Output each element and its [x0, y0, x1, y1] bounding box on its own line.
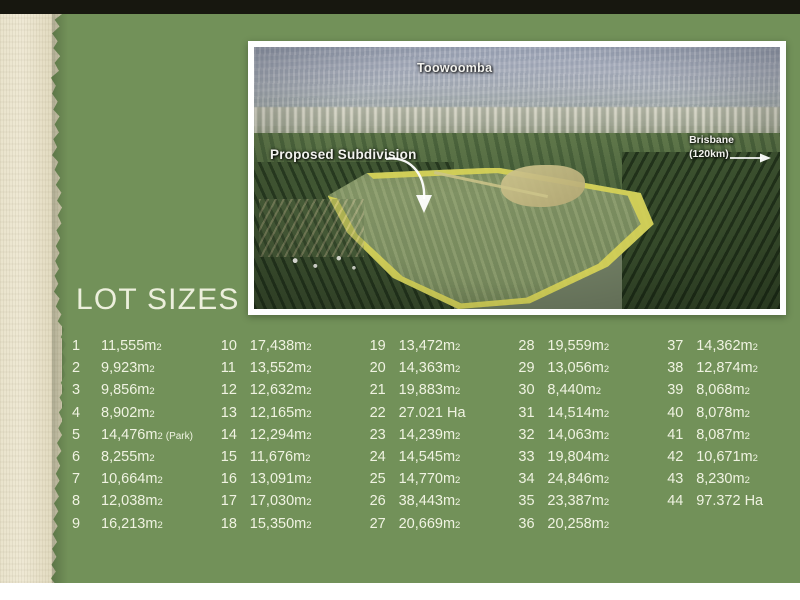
aerial-photo: Toowoomba Proposed Subdivision Brisbane …: [254, 47, 780, 309]
lot-area: 8,087m: [696, 427, 744, 443]
lot-number: 21: [370, 382, 395, 398]
lot-number: 38: [667, 360, 692, 376]
lot-number: 25: [370, 471, 395, 487]
lot-area: 19,804m: [547, 449, 603, 465]
lot-row: 2514,770m2: [370, 471, 519, 493]
lot-column-5: 3714,362m2 3812,874m2 398,068m2 408,078m…: [667, 338, 787, 538]
lot-row: 2014,363m2: [370, 360, 519, 382]
lot-area-unit-exponent: 2: [604, 453, 609, 464]
lot-number: 40: [667, 405, 692, 421]
lot-column-3: 1913,472m2 2014,363m2 2119,883m2 2227.02…: [370, 338, 519, 538]
lot-row: 2913,056m2: [518, 360, 667, 382]
lot-number: 24: [370, 449, 395, 465]
lot-area-unit-exponent: 2: [745, 475, 750, 486]
lot-area-unit-exponent: 2: [455, 520, 460, 531]
lot-area-unit-exponent: 2: [604, 520, 609, 531]
lot-area: 24,846m: [547, 471, 603, 487]
lot-number: 33: [518, 449, 543, 465]
lot-number: 22: [370, 405, 395, 421]
aerial-photo-frame: Toowoomba Proposed Subdivision Brisbane …: [248, 41, 786, 315]
lot-area-unit-exponent: 2: [604, 409, 609, 420]
lot-area-unit-exponent: 2: [157, 475, 162, 486]
lot-row: 1717,030m2: [221, 493, 370, 515]
lot-area-unit-exponent: 2: [306, 431, 311, 442]
lot-area: 16,213m: [101, 516, 157, 532]
lot-area: 8,440m: [547, 382, 595, 398]
lot-number: 19: [370, 338, 395, 354]
lot-row: 4497.372 Ha: [667, 493, 787, 515]
lot-area-unit-exponent: 2: [156, 342, 161, 353]
lot-row: 3424,846m2: [518, 471, 667, 493]
lot-row: 3523,387m2: [518, 493, 667, 515]
lot-area-unit-exponent: 2: [149, 409, 154, 420]
lot-number: 35: [518, 493, 543, 509]
lot-sizes-table: 111,555m2 29,923m2 39,856m2 48,902m2 514…: [72, 338, 787, 538]
lot-area-unit-exponent: 2: [753, 364, 758, 375]
lot-area-unit-exponent: 2: [149, 453, 154, 464]
label-brisbane-group: Brisbane (120km): [689, 133, 734, 161]
torn-paper-strip: [0, 14, 62, 583]
lot-row: 1511,676m2: [221, 449, 370, 471]
lot-number: 10: [221, 338, 246, 354]
lot-area-unit-exponent: 2: [753, 342, 758, 353]
lot-row: 916,213m2: [72, 516, 221, 538]
lot-area: 9,856m: [101, 382, 149, 398]
lot-area-unit-exponent: 2: [306, 364, 311, 375]
lot-row: 710,664m2: [72, 471, 221, 493]
lot-area: 38,443m: [399, 493, 455, 509]
lot-column-2: 1017,438m2 1113,552m2 1212,632m2 1312,16…: [221, 338, 370, 538]
lot-row: 408,078m2: [667, 405, 787, 427]
lot-number: 44: [667, 493, 692, 509]
lot-number: 31: [518, 405, 543, 421]
lot-row: 39,856m2: [72, 382, 221, 404]
lot-number: 41: [667, 427, 692, 443]
bottom-border-band: [0, 583, 800, 600]
lot-row: 1113,552m2: [221, 360, 370, 382]
lot-number: 2: [72, 360, 97, 376]
lot-row: 1613,091m2: [221, 471, 370, 493]
lot-row: 2638,443m2: [370, 493, 519, 515]
lot-area: 13,472m: [399, 338, 455, 354]
lot-area: 8,255m: [101, 449, 149, 465]
lot-row: 1212,632m2: [221, 382, 370, 404]
lot-area: 14,514m: [547, 405, 603, 421]
lot-area: 13,552m: [250, 360, 306, 376]
lot-row: 398,068m2: [667, 382, 787, 404]
lot-number: 11: [221, 360, 246, 376]
lot-area: 12,038m: [101, 493, 157, 509]
lot-column-4: 2819,559m2 2913,056m2 308,440m2 3114,514…: [518, 338, 667, 538]
lot-row: 4210,671m2: [667, 449, 787, 471]
lot-row: 1412,294m2: [221, 427, 370, 449]
lot-area-unit-exponent: 2: [157, 520, 162, 531]
lot-area: 12,874m: [696, 360, 752, 376]
lot-number: 32: [518, 427, 543, 443]
lot-area-unit-exponent: 2: [455, 475, 460, 486]
lot-number: 1: [72, 338, 97, 354]
lot-number: 17: [221, 493, 246, 509]
lot-number: 9: [72, 516, 97, 532]
lot-area-unit-exponent: 2: [306, 342, 311, 353]
lot-area-unit-exponent: 2: [455, 386, 460, 397]
lot-area: 10,671m: [696, 449, 752, 465]
lot-area-unit-exponent: 2: [306, 475, 311, 486]
lot-row: 514,476m2(Park): [72, 427, 221, 449]
lot-area: 12,165m: [250, 405, 306, 421]
lot-row: 1312,165m2: [221, 405, 370, 427]
lot-area: 13,091m: [250, 471, 306, 487]
label-brisbane-name: Brisbane: [689, 133, 734, 147]
lot-area: 12,294m: [250, 427, 306, 443]
top-border-band: [0, 0, 800, 14]
lot-number: 42: [667, 449, 692, 465]
lot-row: 29,923m2: [72, 360, 221, 382]
lot-row: 3214,063m2: [518, 427, 667, 449]
lot-area: 14,770m: [399, 471, 455, 487]
lot-area-unit-exponent: 2: [306, 520, 311, 531]
lot-area: 15,350m: [250, 516, 306, 532]
lot-area: 12,632m: [250, 382, 306, 398]
lot-area: 19,559m: [547, 338, 603, 354]
label-toowoomba: Toowoomba: [417, 61, 492, 75]
lot-area-unit-exponent: 2: [306, 409, 311, 420]
lot-number: 8: [72, 493, 97, 509]
lot-area-unit-exponent: 2: [455, 453, 460, 464]
lot-area: 14,239m: [399, 427, 455, 443]
photo-farm-paddocks: [259, 199, 364, 257]
lot-column-1: 111,555m2 29,923m2 39,856m2 48,902m2 514…: [72, 338, 221, 538]
lot-number: 12: [221, 382, 246, 398]
lot-row: 308,440m2: [518, 382, 667, 404]
lot-area: 13,056m: [547, 360, 603, 376]
lot-area: 14,363m: [399, 360, 455, 376]
lot-area-unit-exponent: 2: [604, 475, 609, 486]
lot-area: 14,476m: [101, 427, 157, 443]
lot-area-unit-exponent: 2: [604, 431, 609, 442]
lot-area: 8,078m: [696, 405, 744, 421]
lot-area-unit-exponent: 2: [455, 342, 460, 353]
lot-row: 2119,883m2: [370, 382, 519, 404]
lot-area: 8,230m: [696, 471, 744, 487]
lot-area-unit-exponent: 2: [455, 497, 460, 508]
lot-area: 14,545m: [399, 449, 455, 465]
lot-number: 37: [667, 338, 692, 354]
photo-buildings: [280, 251, 364, 275]
lot-row: 2720,669m2: [370, 516, 519, 538]
lot-number: 34: [518, 471, 543, 487]
lot-area: 11,676m: [250, 449, 305, 465]
lot-area-unit-exponent: 2: [596, 386, 601, 397]
label-brisbane-distance: (120km): [689, 147, 734, 161]
lot-number: 14: [221, 427, 246, 443]
lot-row: 3812,874m2: [667, 360, 787, 382]
lot-row: 3620,258m2: [518, 516, 667, 538]
lot-area-unit-exponent: 2: [604, 497, 609, 508]
lot-row: 48,902m2: [72, 405, 221, 427]
lot-row: 418,087m2: [667, 427, 787, 449]
lot-number: 23: [370, 427, 395, 443]
lot-area: 9,923m: [101, 360, 149, 376]
lot-row: 68,255m2: [72, 449, 221, 471]
slide-canvas: Toowoomba Proposed Subdivision Brisbane …: [0, 0, 800, 600]
lot-row: 1913,472m2: [370, 338, 519, 360]
lot-number: 6: [72, 449, 97, 465]
lot-number: 7: [72, 471, 97, 487]
lot-area-unit-exponent: 2: [149, 386, 154, 397]
lot-area: 17,030m: [250, 493, 306, 509]
lot-area: 11,555m: [101, 338, 156, 354]
lot-row: 2819,559m2: [518, 338, 667, 360]
lot-area-unit-exponent: 2: [149, 364, 154, 375]
page-title: LOT SIZES: [76, 283, 240, 317]
lot-row: 2314,239m2: [370, 427, 519, 449]
lot-area: 20,669m: [399, 516, 455, 532]
label-proposed-subdivision: Proposed Subdivision: [270, 147, 417, 162]
lot-area-unit-exponent: 2: [157, 431, 162, 442]
lot-row: 1815,350m2: [221, 516, 370, 538]
lot-number: 20: [370, 360, 395, 376]
lot-row: 111,555m2: [72, 338, 221, 360]
lot-row: 438,230m2: [667, 471, 787, 493]
lot-number: 36: [518, 516, 543, 532]
lot-area-unit-exponent: 2: [604, 364, 609, 375]
lot-note: (Park): [166, 431, 193, 442]
lot-row: 812,038m2: [72, 493, 221, 515]
lot-area-unit-exponent: 2: [604, 342, 609, 353]
lot-area-unit-exponent: 2: [745, 431, 750, 442]
lot-number: 5: [72, 427, 97, 443]
lot-row: 3114,514m2: [518, 405, 667, 427]
lot-number: 18: [221, 516, 246, 532]
lot-number: 29: [518, 360, 543, 376]
lot-area: 27.021 Ha: [399, 405, 466, 421]
lot-area: 14,063m: [547, 427, 603, 443]
lot-area-unit-exponent: 2: [745, 409, 750, 420]
lot-area: 17,438m: [250, 338, 306, 354]
lot-area-unit-exponent: 2: [455, 431, 460, 442]
lot-area-unit-exponent: 2: [305, 453, 310, 464]
lot-number: 39: [667, 382, 692, 398]
lot-area: 20,258m: [547, 516, 603, 532]
lot-number: 30: [518, 382, 543, 398]
lot-row: 2227.021 Ha: [370, 405, 519, 427]
lot-number: 43: [667, 471, 692, 487]
lot-row: 1017,438m2: [221, 338, 370, 360]
lot-number: 16: [221, 471, 246, 487]
lot-number: 27: [370, 516, 395, 532]
lot-row: 2414,545m2: [370, 449, 519, 471]
lot-number: 28: [518, 338, 543, 354]
lot-number: 26: [370, 493, 395, 509]
lot-area-unit-exponent: 2: [306, 386, 311, 397]
lot-area: 8,902m: [101, 405, 149, 421]
lot-area: 19,883m: [399, 382, 455, 398]
lot-area-unit-exponent: 2: [157, 497, 162, 508]
lot-row: 3714,362m2: [667, 338, 787, 360]
lot-area-unit-exponent: 2: [753, 453, 758, 464]
lot-number: 15: [221, 449, 246, 465]
lot-area: 97.372 Ha: [696, 493, 763, 509]
lot-row: 3319,804m2: [518, 449, 667, 471]
lot-area-unit-exponent: 2: [306, 497, 311, 508]
lot-number: 4: [72, 405, 97, 421]
lot-area: 8,068m: [696, 382, 744, 398]
lot-number: 3: [72, 382, 97, 398]
lot-area-unit-exponent: 2: [455, 364, 460, 375]
lot-area: 14,362m: [696, 338, 752, 354]
lot-area-unit-exponent: 2: [745, 386, 750, 397]
lot-number: 13: [221, 405, 246, 421]
lot-area: 10,664m: [101, 471, 157, 487]
lot-area: 23,387m: [547, 493, 603, 509]
